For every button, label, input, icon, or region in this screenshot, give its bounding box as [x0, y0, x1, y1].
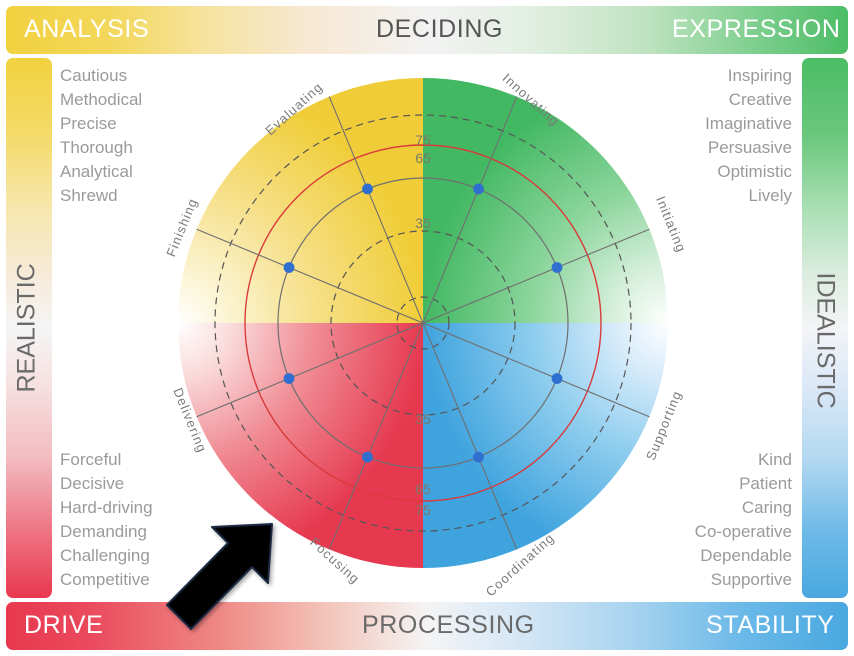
tick-bottom-75: 75	[415, 502, 431, 518]
data-point-focusing	[362, 452, 373, 463]
data-point-innovating	[473, 184, 484, 195]
tick-bottom-35: 35	[415, 411, 431, 427]
quadrant-drive[interactable]	[178, 323, 423, 568]
data-point-evaluating	[362, 184, 373, 195]
data-point-delivering	[284, 373, 295, 384]
data-point-supporting	[552, 373, 563, 384]
data-point-finishing	[284, 262, 295, 273]
tick-top-65: 65	[415, 150, 431, 166]
spoke-label-initiating: Initiating	[653, 194, 689, 255]
tick-top-35: 35	[415, 215, 431, 231]
data-point-coordinating	[473, 452, 484, 463]
pointer-arrow	[167, 524, 272, 629]
profile-wheel-page: ANALYSIS DECIDING EXPRESSION DRIVE PROCE…	[0, 0, 854, 656]
profile-wheel-chart[interactable]: 75 65 35 35 65 75 Evaluating Innovating …	[0, 0, 854, 656]
data-point-initiating	[552, 262, 563, 273]
quadrant-analysis[interactable]	[178, 78, 423, 323]
tick-bottom-65: 65	[415, 481, 431, 497]
tick-top-75: 75	[415, 132, 431, 148]
